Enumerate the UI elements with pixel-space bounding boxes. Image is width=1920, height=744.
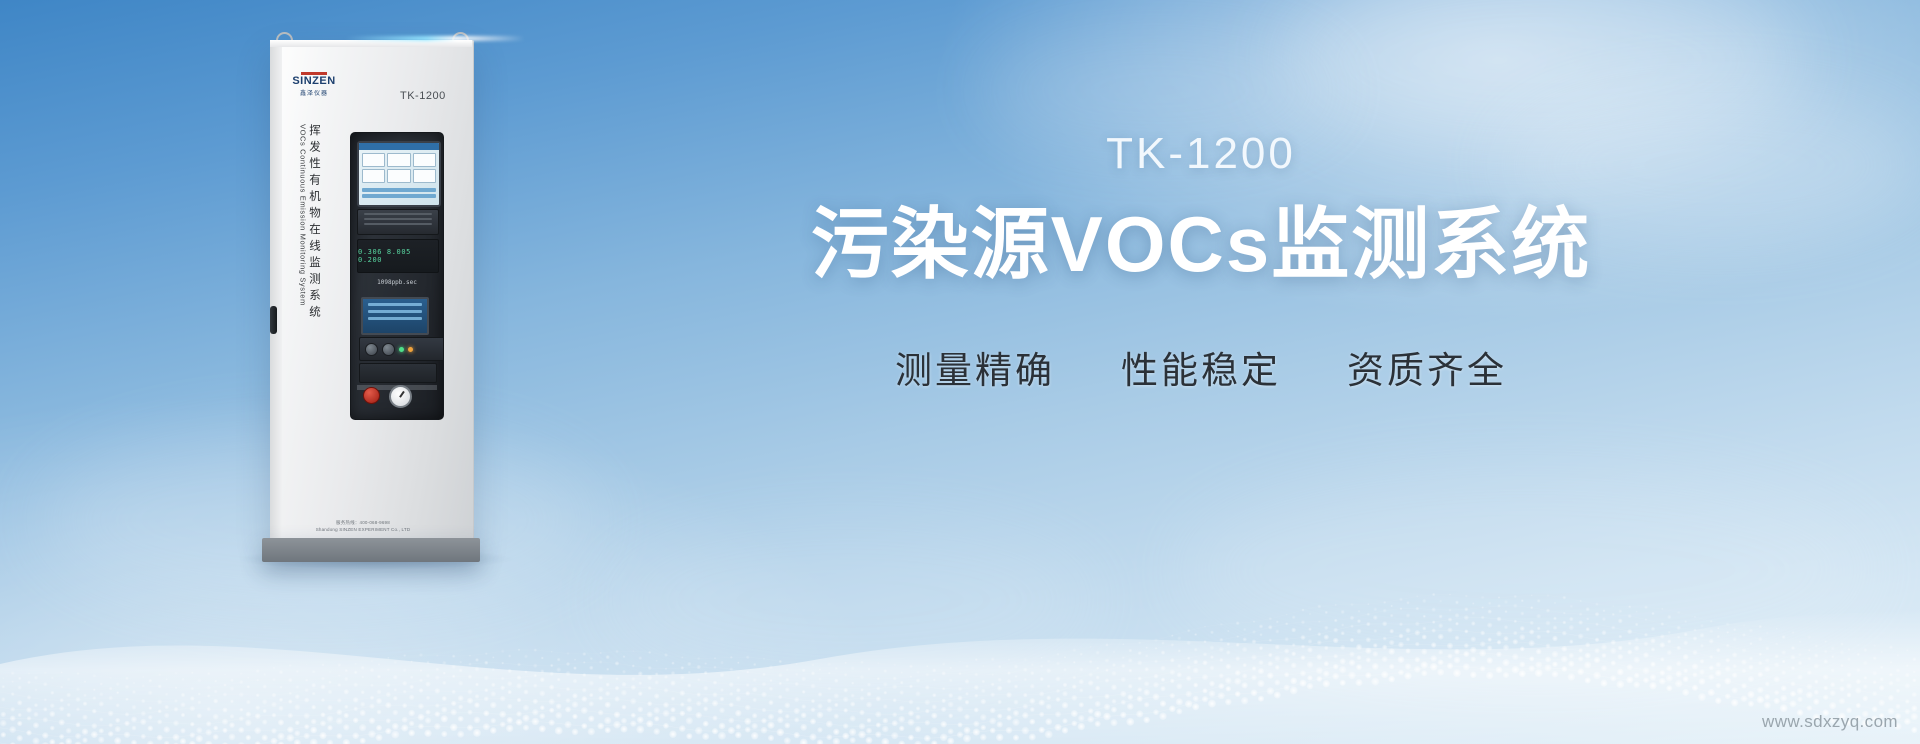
- lcd-text-line: [368, 310, 422, 313]
- status-led-green-icon: [399, 347, 404, 352]
- wave-band: [0, 610, 1920, 744]
- brand-logo: SINZEN 鑫泽仪器: [285, 72, 343, 97]
- wave-mesh-lines: [0, 595, 1920, 744]
- cabinet-vertical-label: 挥发性有机物在线监测系统 VOCs Continuous Emission Mo…: [284, 124, 320, 404]
- cabinet-left-edge: [270, 40, 282, 540]
- hmi-tile: [362, 153, 385, 167]
- module-panel-upper: [357, 209, 439, 235]
- hmi-status-bar: [362, 194, 436, 198]
- digital-readout-value: 0.306 8.005 0.200: [358, 248, 438, 264]
- hmi-titlebar: [359, 143, 439, 150]
- banner-headline: 污染源VOCs监测系统: [556, 202, 1846, 286]
- control-knob-icon[interactable]: [365, 343, 378, 356]
- cabinet-footer-line-2: Shandong SINZEN EXPERIMENT Co., LTD: [288, 527, 438, 534]
- wave-dots: [0, 593, 1920, 744]
- instrument-door: 0.306 8.005 0.200 1098ppb.sec: [350, 132, 444, 420]
- hmi-status-bar: [362, 188, 436, 192]
- hmi-tile: [387, 153, 410, 167]
- product-banner: SINZEN 鑫泽仪器 TK-1200 挥发性有机物在线监测系统 VOCs Co…: [0, 0, 1920, 744]
- hmi-tile: [362, 169, 385, 183]
- control-knob-icon[interactable]: [382, 343, 395, 356]
- feature-item-1: 测量精确: [895, 340, 1055, 394]
- brand-name-cn: 鑫泽仪器: [285, 88, 343, 97]
- banner-text-block: TK-1200 污染源VOCs监测系统 测量精确 性能稳定 资质齐全: [556, 132, 1846, 394]
- feature-item-2: 性能稳定: [1121, 340, 1281, 394]
- cloud-highlight-6: [600, 520, 1100, 680]
- product-model-label: TK-1200: [556, 132, 1846, 176]
- brand-name: SINZEN: [285, 76, 343, 87]
- status-led-amber-icon: [408, 347, 413, 352]
- cabinet-base-plinth: [262, 538, 480, 562]
- vertical-label-en: VOCs Continuous Emission Monitoring Syst…: [299, 124, 307, 404]
- cabinet-model-plate: TK-1200: [400, 90, 446, 102]
- emergency-stop-button[interactable]: [363, 387, 380, 404]
- vocs-analyzer-cabinet: SINZEN 鑫泽仪器 TK-1200 挥发性有机物在线监测系统 VOCs Co…: [262, 28, 480, 550]
- hmi-touchscreen[interactable]: [357, 141, 441, 207]
- feature-item-3: 资质齐全: [1347, 340, 1507, 394]
- lcd-text-line: [368, 303, 422, 306]
- panel-vent-line: [364, 218, 432, 220]
- digital-readout-panel: 0.306 8.005 0.200: [357, 239, 439, 273]
- control-row-upper: [359, 337, 444, 361]
- feature-list: 测量精确 性能稳定 资质齐全: [556, 340, 1846, 394]
- controller-lcd: [361, 297, 429, 335]
- vertical-label-cn: 挥发性有机物在线监测系统: [309, 124, 321, 404]
- hmi-tile: [413, 153, 436, 167]
- door-handle[interactable]: [270, 306, 277, 334]
- panel-vent-line: [364, 223, 432, 225]
- control-row-lower: [359, 363, 437, 383]
- site-watermark: www.sdxzyq.com: [1762, 712, 1898, 732]
- panel-vent-line: [364, 213, 432, 215]
- hmi-tile: [387, 169, 410, 183]
- secondary-readout: 1098ppb.sec: [357, 275, 437, 289]
- hmi-tile: [413, 169, 436, 183]
- secondary-readout-value: 1098ppb.sec: [377, 279, 417, 286]
- cabinet-top-edge: [270, 40, 472, 47]
- light-streak-accent: [345, 36, 525, 41]
- pressure-gauge-icon: [389, 385, 412, 408]
- hmi-tile-grid: [359, 150, 439, 186]
- cloud-highlight-5: [1180, 470, 1880, 670]
- cabinet-footer-text: 服务热线：400-068-9698 Shandong SINZEN EXPERI…: [288, 520, 438, 533]
- lcd-text-line: [368, 317, 422, 320]
